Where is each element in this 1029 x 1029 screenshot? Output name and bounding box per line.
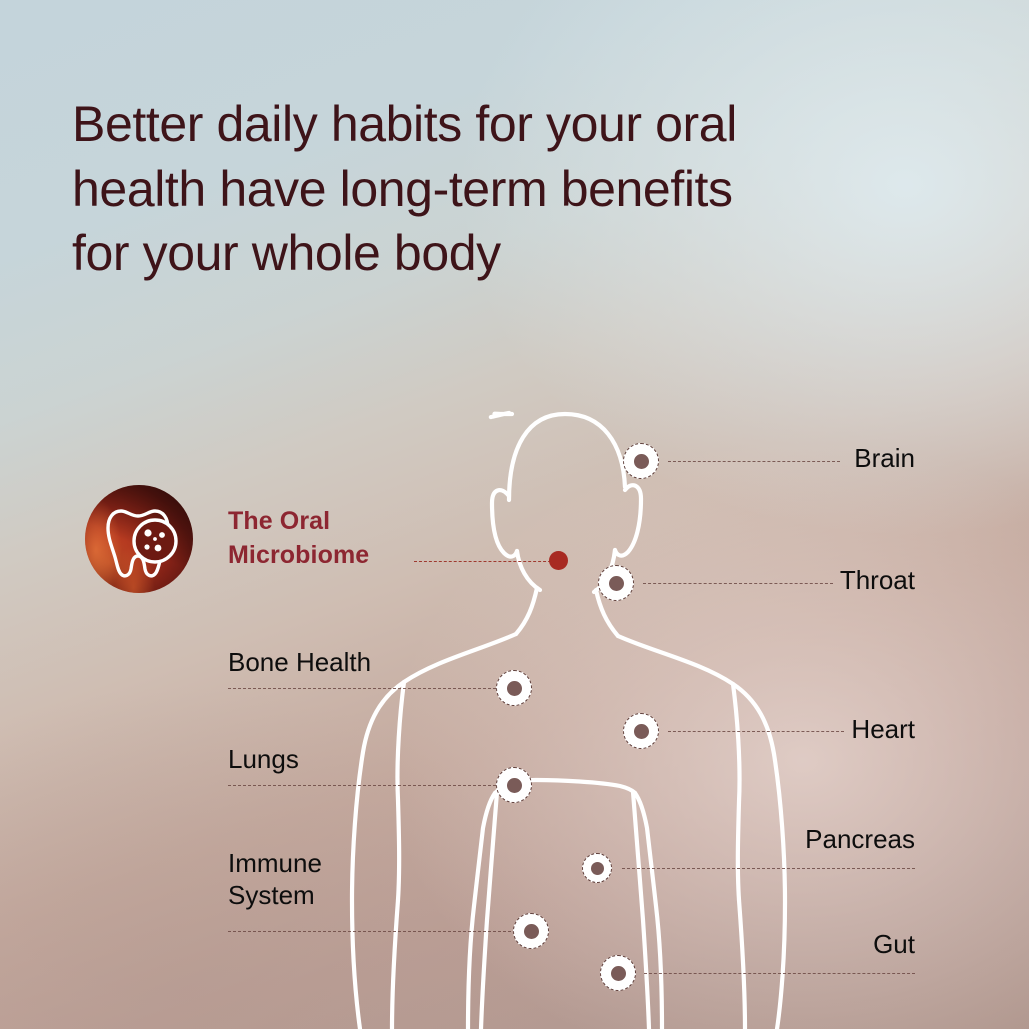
marker-brain[interactable] (623, 443, 659, 479)
label-immune-system: Immune System (228, 848, 528, 911)
label-heart: Heart (695, 714, 915, 746)
page-title: Better daily habits for your oral health… (72, 92, 932, 286)
infographic-canvas: Better daily habits for your oral health… (0, 0, 1029, 1029)
headline-line-2: health have long-term benefits (72, 157, 932, 222)
tooth-microbiome-icon[interactable] (85, 485, 193, 593)
marker-dot (611, 966, 626, 981)
marker-dot (524, 924, 539, 939)
marker-dot (507, 778, 522, 793)
tooth-icon-glyph (85, 485, 193, 593)
connector-oral-microbiome (414, 561, 556, 562)
marker-gut[interactable] (600, 955, 636, 991)
label-brain: Brain (695, 443, 915, 475)
headline-line-3: for your whole body (72, 221, 932, 286)
headline-line-1: Better daily habits for your oral (72, 92, 932, 157)
connector-bone-health (228, 688, 496, 689)
label-lungs: Lungs (228, 744, 528, 776)
label-pancreas: Pancreas (675, 824, 915, 856)
marker-dot (609, 576, 624, 591)
connector-gut (644, 973, 915, 974)
connector-pancreas (622, 868, 915, 869)
label-bone-health: Bone Health (228, 647, 528, 679)
marker-dot (634, 454, 649, 469)
marker-oral-microbiome[interactable] (549, 551, 568, 570)
marker-dot (507, 681, 522, 696)
marker-dot (591, 862, 604, 875)
label-gut: Gut (695, 929, 915, 961)
connector-immune-system (228, 931, 516, 932)
marker-immune-system[interactable] (513, 913, 549, 949)
marker-heart[interactable] (623, 713, 659, 749)
connector-lungs (228, 785, 496, 786)
marker-dot (634, 724, 649, 739)
marker-pancreas[interactable] (582, 853, 612, 883)
badge-title: The Oral Microbiome (228, 505, 369, 573)
label-throat: Throat (695, 565, 915, 597)
marker-throat[interactable] (598, 565, 634, 601)
